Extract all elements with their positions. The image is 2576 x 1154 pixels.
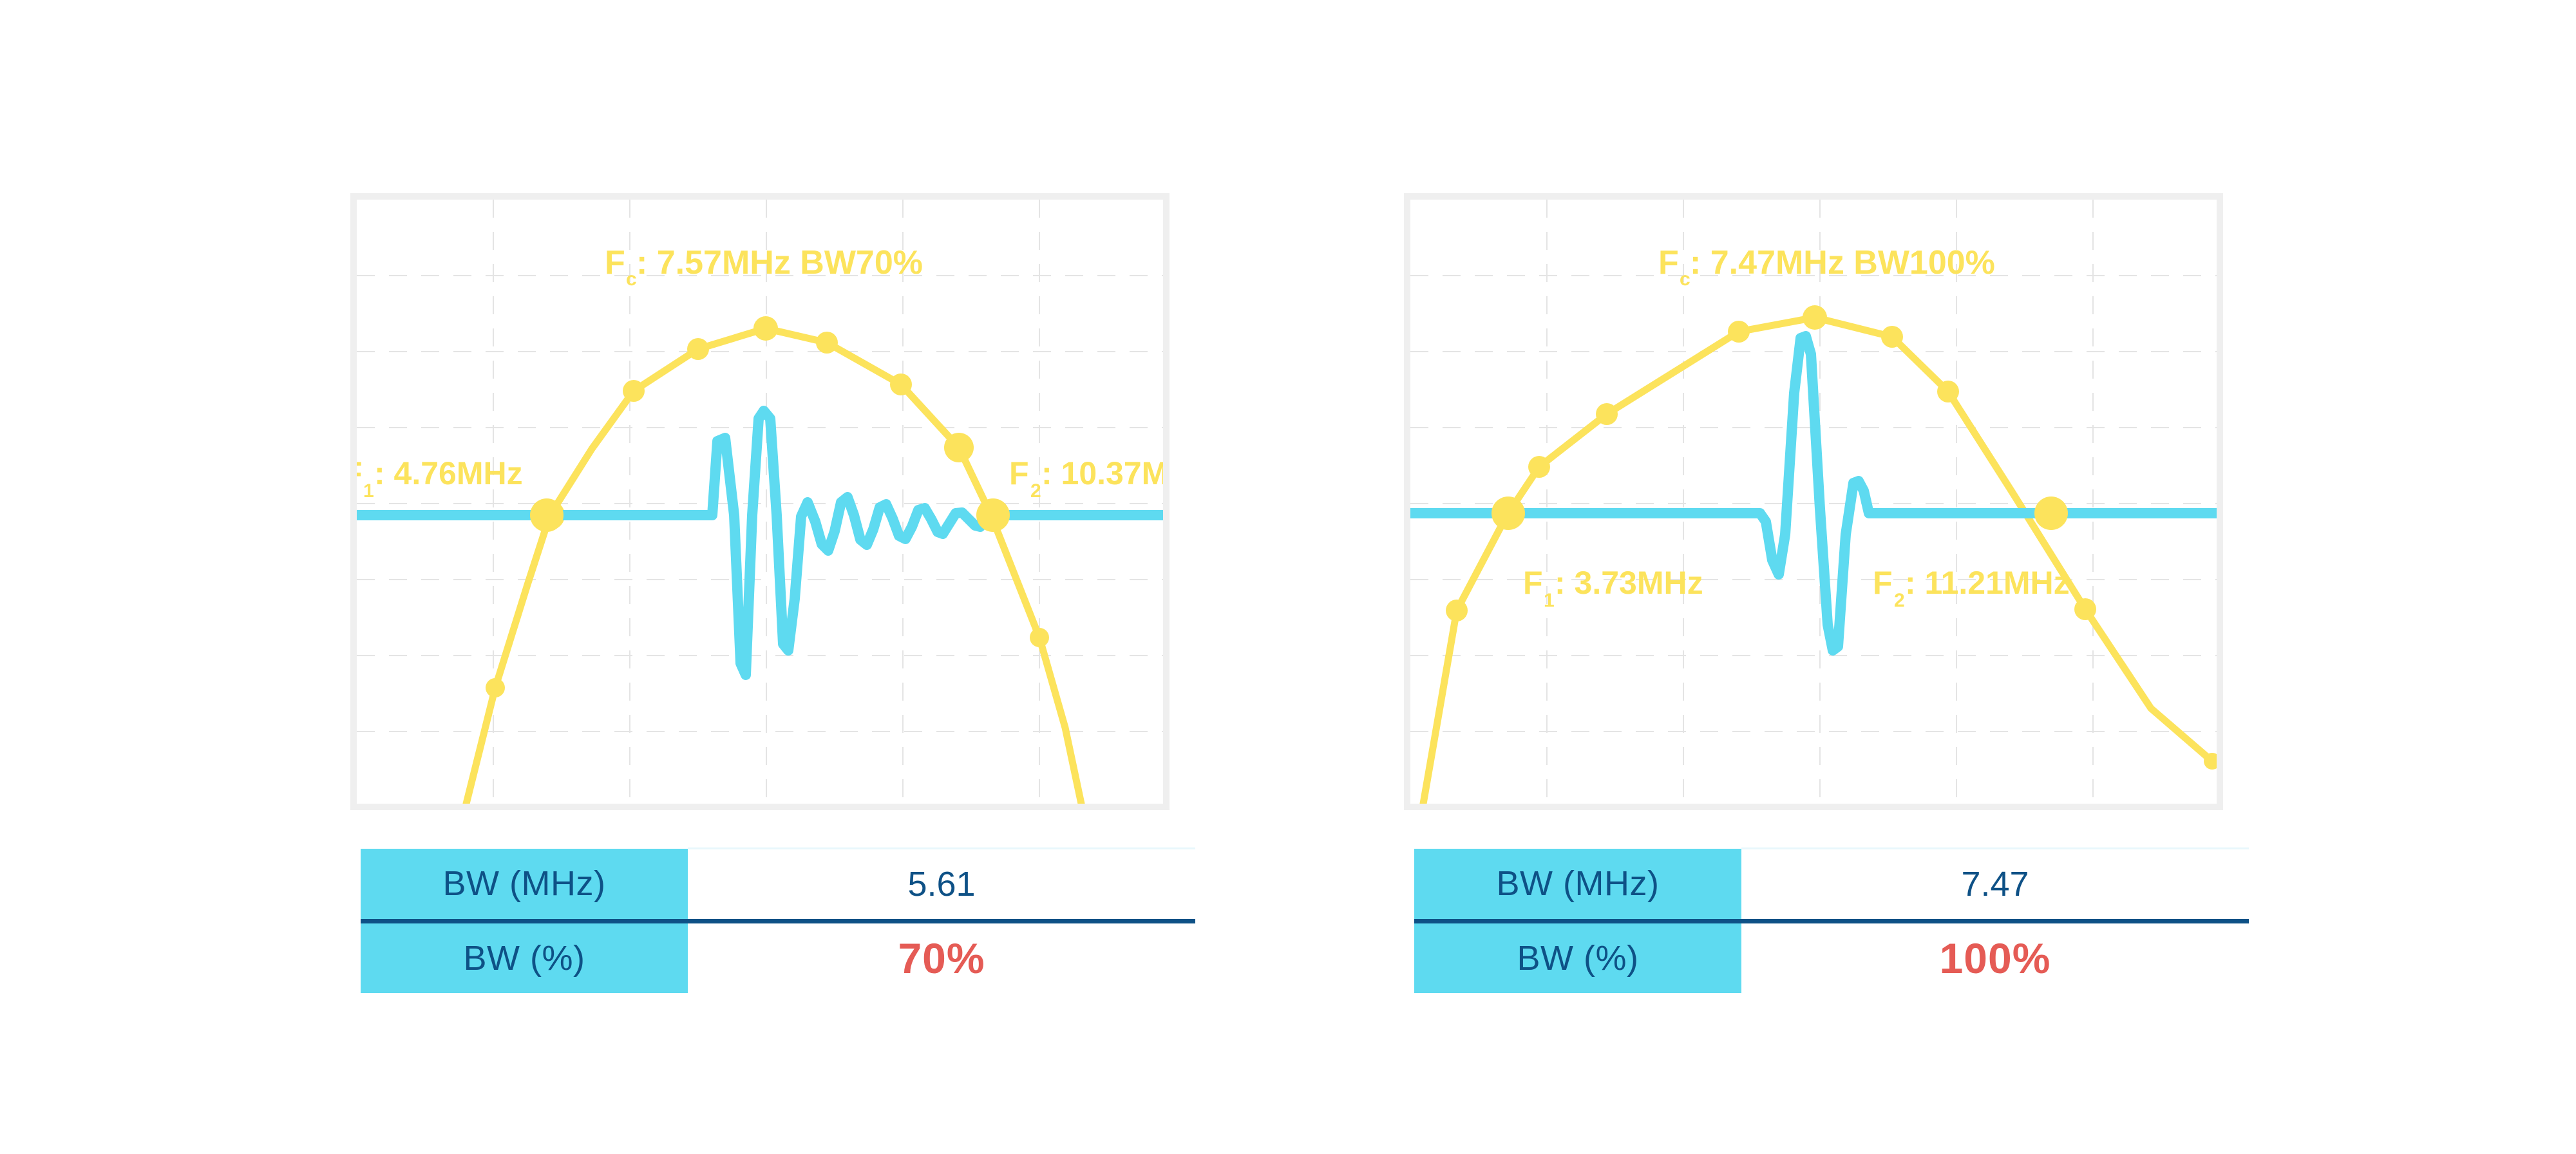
- f2-text-right: : 11.21MHz: [1905, 565, 2070, 601]
- bw-table-left: BW (MHz) 5.61 BW (%) 70%: [361, 847, 1195, 993]
- f1-prefix-left: F: [357, 455, 363, 491]
- bw-mhz-label-right: BW (MHz): [1414, 849, 1741, 922]
- annotation-center-left: F c : 7.57MHz BW70%: [605, 244, 923, 290]
- plot-frame-right: F c : 7.47MHz BW100% F 1 : 3.73MHz F 2: [1404, 193, 2223, 810]
- annotation-f2-right: F 2 : 11.21MHz: [1873, 565, 2070, 611]
- bw-pct-value-right: 100%: [1741, 922, 2249, 994]
- fc-prefix-left: F: [605, 244, 625, 281]
- table-row: BW (%) 70%: [361, 922, 1195, 994]
- f2-marker-right: [2034, 497, 2068, 530]
- f1-subscript-right: 1: [1544, 590, 1555, 611]
- annotation-f1-left: F 1 : 4.76MHz: [357, 455, 523, 502]
- plot-area-left: F c : 7.57MHz BW70% F 1 : 4.76MHz F 2: [357, 200, 1163, 804]
- pulse-echo-waveform-right: [1410, 336, 2217, 650]
- bw-mhz-value-right: 7.47: [1741, 849, 2249, 922]
- f1-marker-left: [530, 498, 563, 532]
- fc-subscript-left: c: [626, 269, 637, 290]
- grid-lines-left: [357, 200, 1163, 804]
- table-row: BW (%) 100%: [1414, 922, 2249, 994]
- f1-text-left: : 4.76MHz: [374, 455, 523, 491]
- bw-pct-label-left: BW (%): [361, 922, 688, 994]
- annotation-f2-left: F 2 : 10.37MHz: [1009, 455, 1163, 502]
- annotation-center-right: F c : 7.47MHz BW100%: [1658, 244, 1995, 290]
- f2-marker-left: [976, 498, 1010, 532]
- f2-prefix-right: F: [1873, 565, 1893, 601]
- table-row: BW (MHz) 7.47: [1414, 849, 2249, 922]
- fc-text-left: : 7.57MHz BW70%: [636, 244, 923, 281]
- f1-subscript-left: 1: [363, 480, 374, 502]
- f2-prefix-left: F: [1009, 455, 1029, 491]
- plot-frame-left: F c : 7.57MHz BW70% F 1 : 4.76MHz F 2: [350, 193, 1170, 810]
- spectrum-chart-right: F c : 7.47MHz BW100% F 1 : 3.73MHz F 2: [1410, 200, 2217, 804]
- f1-prefix-right: F: [1523, 565, 1543, 601]
- f2-subscript-left: 2: [1030, 480, 1041, 502]
- fc-text-right: : 7.47MHz BW100%: [1690, 244, 1995, 281]
- f2-subscript-right: 2: [1894, 590, 1905, 611]
- f1-text-right: : 3.73MHz: [1555, 565, 1703, 601]
- fc-prefix-right: F: [1658, 244, 1679, 281]
- bw-table-right: BW (MHz) 7.47 BW (%) 100%: [1414, 847, 2249, 993]
- f2-text-left: : 10.37MHz: [1041, 455, 1163, 491]
- bw-mhz-value-left: 5.61: [688, 849, 1195, 922]
- bw-pct-value-left: 70%: [688, 922, 1195, 994]
- plot-area-right: F c : 7.47MHz BW100% F 1 : 3.73MHz F 2: [1410, 200, 2217, 804]
- table-row: BW (MHz) 5.61: [361, 849, 1195, 922]
- spectrum-markers-right: [1446, 305, 2217, 770]
- bw-mhz-label-left: BW (MHz): [361, 849, 688, 922]
- annotation-f1-right: F 1 : 3.73MHz: [1523, 565, 1703, 611]
- fc-subscript-right: c: [1680, 269, 1690, 290]
- figure-root: F c : 7.57MHz BW70% F 1 : 4.76MHz F 2: [0, 0, 2576, 1154]
- grid-lines-right: [1410, 200, 2217, 804]
- spectrum-markers-left: [486, 316, 1049, 697]
- spectrum-curve-left: [466, 328, 1081, 804]
- f1-marker-right: [1492, 497, 1525, 530]
- spectrum-chart-left: F c : 7.57MHz BW70% F 1 : 4.76MHz F 2: [357, 200, 1163, 804]
- bw-pct-label-right: BW (%): [1414, 922, 1741, 994]
